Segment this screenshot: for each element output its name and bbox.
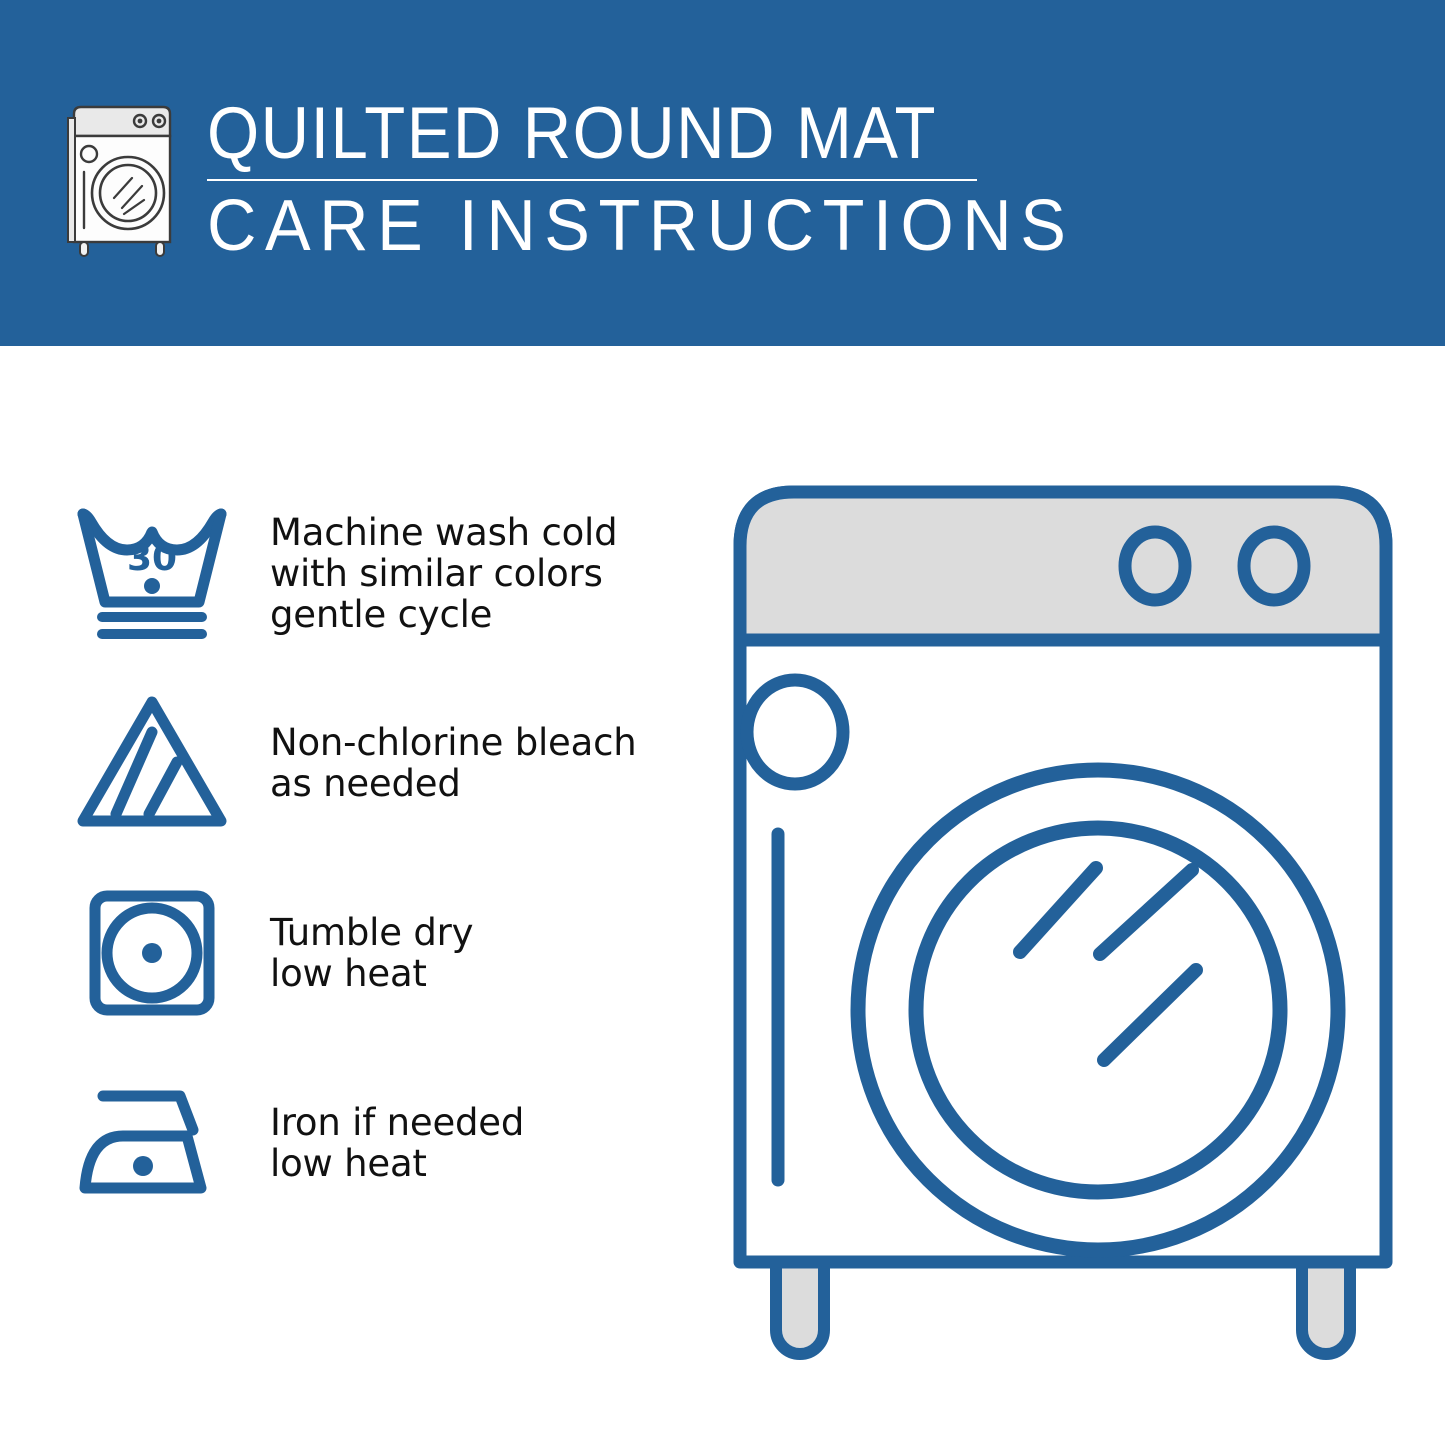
control-panel (740, 492, 1386, 640)
care-label-line: Tumble dry (270, 912, 702, 953)
front-load-washing-machine-illustration (718, 470, 1408, 1380)
care-label-line: Iron if needed (270, 1102, 702, 1143)
header-titles: QUILTED ROUND MAT CARE INSTRUCTIONS (207, 96, 1120, 265)
leg-right (1302, 1262, 1350, 1354)
care-row-machine-wash: 30 Machine wash cold with similar colors… (62, 478, 702, 668)
machine-wash-30-gentle-icon: 30 (62, 491, 242, 656)
care-instruction-list: 30 Machine wash cold with similar colors… (62, 478, 702, 1238)
washing-machine-icon (62, 104, 182, 259)
care-label-line: as needed (270, 763, 702, 804)
care-label-machine-wash: Machine wash cold with similar colors ge… (270, 512, 702, 635)
wash-temperature-label: 30 (127, 538, 177, 579)
care-label-line: low heat (270, 953, 702, 994)
header-content: QUILTED ROUND MAT CARE INSTRUCTIONS (62, 96, 1382, 261)
header-band: QUILTED ROUND MAT CARE INSTRUCTIONS (0, 0, 1445, 346)
title-divider (207, 179, 977, 181)
care-label-line: low heat (270, 1143, 702, 1184)
care-label-line: with similar colors (270, 553, 702, 594)
care-row-iron: Iron if needed low heat (62, 1048, 702, 1238)
leg-left (776, 1262, 824, 1354)
care-label-line: Non-chlorine bleach (270, 722, 702, 763)
care-label-line: Machine wash cold (270, 512, 702, 553)
care-label-iron: Iron if needed low heat (270, 1102, 702, 1184)
care-label-line: gentle cycle (270, 594, 702, 635)
page-subtitle: CARE INSTRUCTIONS (207, 187, 1074, 265)
care-label-bleach: Non-chlorine bleach as needed (270, 722, 702, 804)
care-label-tumble-dry: Tumble dry low heat (270, 912, 702, 994)
page-title: QUILTED ROUND MAT (207, 96, 1047, 172)
care-row-tumble-dry: Tumble dry low heat (62, 858, 702, 1048)
care-row-bleach: Non-chlorine bleach as needed (62, 668, 702, 858)
iron-low-heat-icon (62, 1061, 242, 1226)
non-chlorine-bleach-triangle-icon (62, 681, 242, 846)
tumble-dry-low-icon (62, 871, 242, 1036)
